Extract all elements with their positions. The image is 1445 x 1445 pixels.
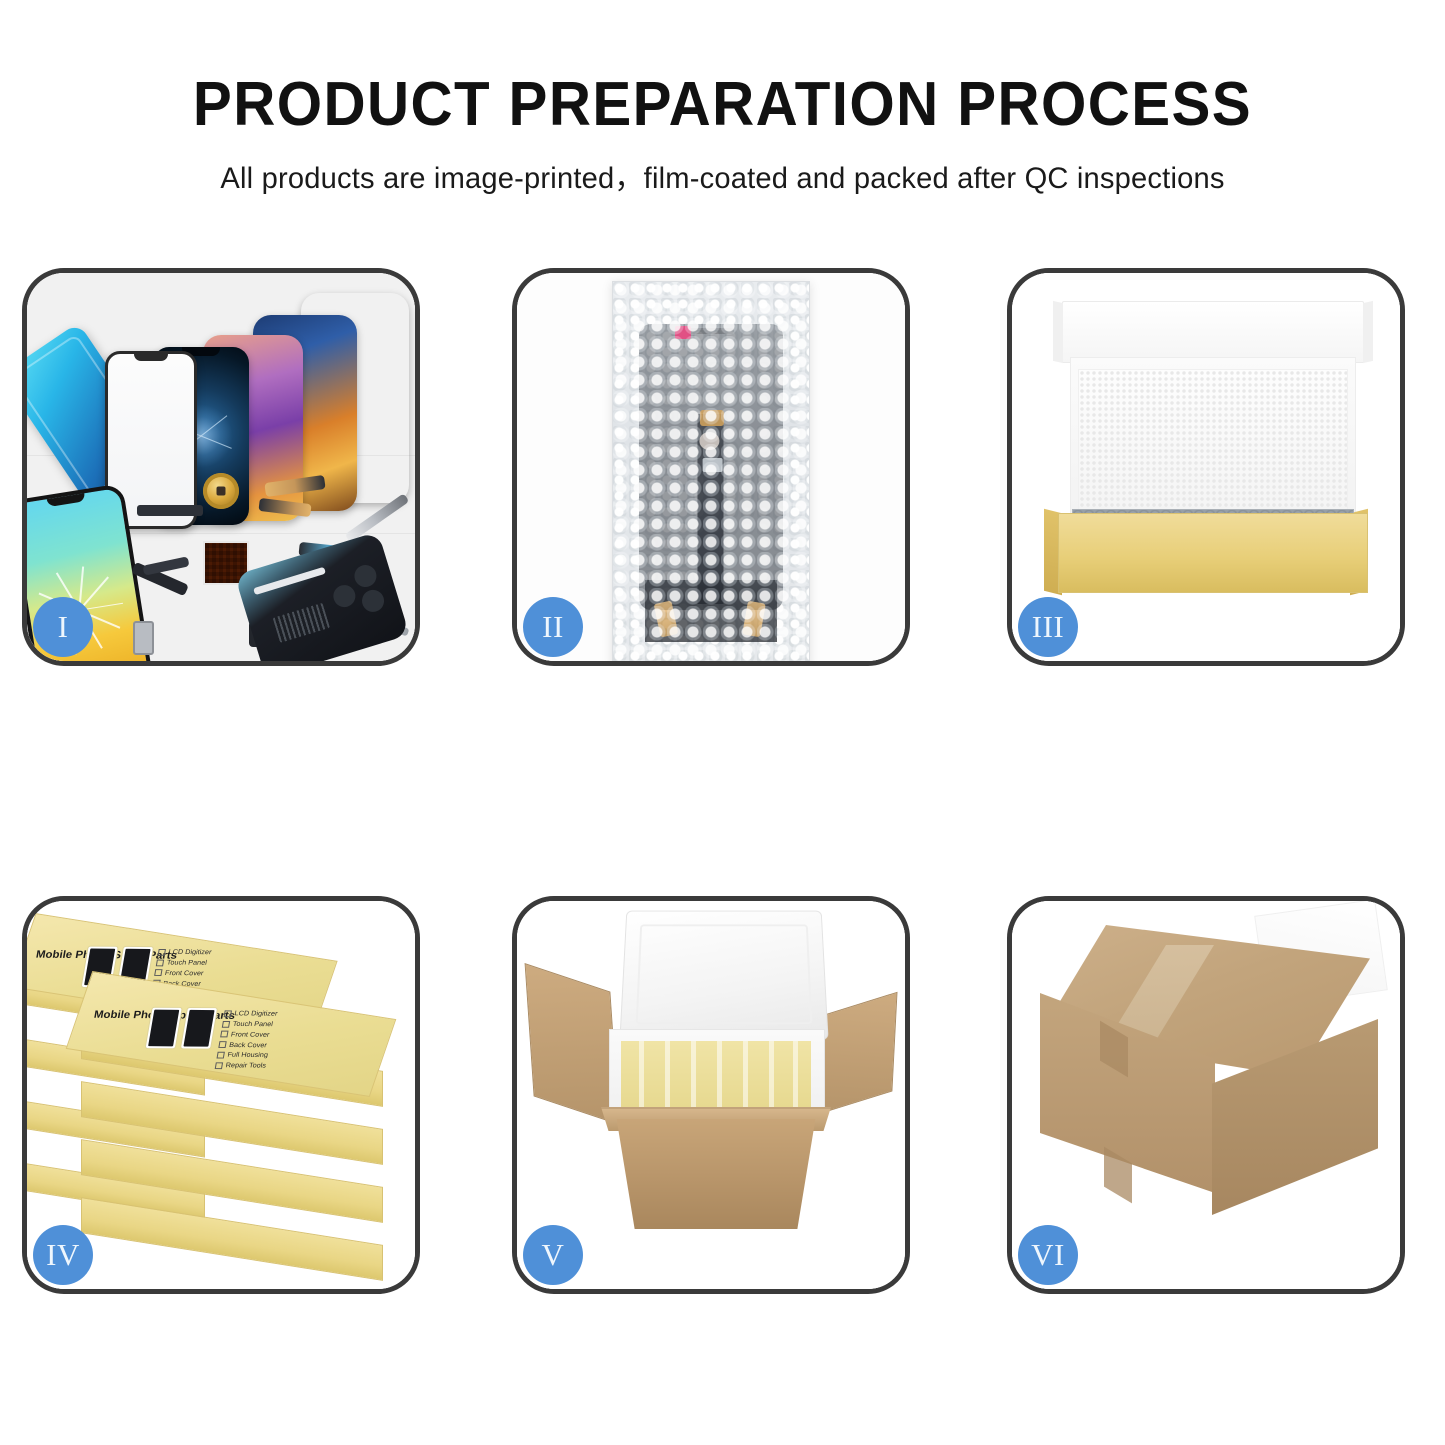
step-panel-4[interactable]: Mobile Phone Spare Parts LCD Digitizer T…	[22, 896, 420, 1294]
step-badge-3: III	[1018, 597, 1078, 657]
process-step-grid: 08:08	[22, 268, 1422, 1318]
bubble-wrap-scene	[517, 273, 905, 661]
flex-cable-part	[142, 556, 189, 575]
sealed-carton-scene	[1012, 901, 1400, 1289]
ic-chip-icon	[273, 603, 330, 643]
step-panel-6[interactable]: VI	[1007, 896, 1405, 1294]
page-header: PRODUCT PREPARATION PROCESS All products…	[0, 0, 1445, 197]
page-title: PRODUCT PREPARATION PROCESS	[43, 0, 1401, 137]
step-badge-6: VI	[1018, 1225, 1078, 1285]
step-5-image	[517, 901, 905, 1289]
board-flex-icon	[253, 567, 326, 595]
gold-connector-icon	[742, 601, 766, 638]
step-badge-4: IV	[33, 1225, 93, 1285]
step-panel-2[interactable]: II	[512, 268, 910, 666]
screen-thumbnail	[144, 1007, 182, 1050]
step-4-image: Mobile Phone Spare Parts LCD Digitizer T…	[27, 901, 415, 1289]
bottom-connector-block	[645, 580, 777, 642]
step-panel-3[interactable]: III	[1007, 268, 1405, 666]
logic-board-part	[234, 531, 409, 661]
gold-connector-icon	[654, 601, 679, 638]
carton-packing-scene	[517, 901, 905, 1289]
foam-sheet	[1078, 369, 1348, 517]
step-badge-2: II	[523, 597, 583, 657]
step-badge-1: I	[33, 597, 93, 657]
step-6-image	[1012, 901, 1400, 1289]
phone-notch-icon	[134, 353, 168, 361]
taptic-engine-part	[137, 505, 203, 516]
bubble-wrap-bag	[612, 281, 810, 661]
box-thumbnails	[144, 1007, 218, 1050]
box-stack-scene: Mobile Phone Spare Parts LCD Digitizer T…	[27, 901, 415, 1289]
qc-sticker-icon	[675, 326, 691, 339]
box-lid	[1062, 301, 1364, 363]
step-badge-5: V	[523, 1225, 583, 1285]
camera-hole-icon	[699, 432, 719, 450]
page-subtitle: All products are image-printed，film-coat…	[22, 137, 1424, 197]
carton-flap-left	[525, 963, 620, 1125]
open-inner-box-scene	[1012, 273, 1400, 661]
screen-thumbnail	[180, 1007, 218, 1050]
gold-connector-icon	[700, 410, 724, 426]
box-front-wall	[1058, 513, 1368, 593]
step-panel-5[interactable]: V	[512, 896, 910, 1294]
ic-chip-icon	[703, 458, 723, 472]
sim-tray-part	[133, 621, 154, 655]
step-1-image: 08:08	[27, 273, 415, 661]
carton-body	[603, 1119, 829, 1229]
step-2-image	[517, 273, 905, 661]
step-3-image	[1012, 273, 1400, 661]
styrofoam-lid	[619, 911, 828, 1040]
box-checklist-front: LCD Digitizer Touch Panel Front Cover Ba…	[214, 1009, 278, 1072]
step-panel-1[interactable]: 08:08	[22, 268, 420, 666]
camera-module-icon	[352, 562, 379, 589]
earpiece-slot-icon	[688, 328, 734, 334]
wireless-coil-part	[203, 473, 239, 509]
retail-boxes-inside	[621, 1041, 811, 1113]
phone-notch-icon	[46, 491, 85, 507]
parts-collage-scene: 08:08	[27, 273, 415, 661]
